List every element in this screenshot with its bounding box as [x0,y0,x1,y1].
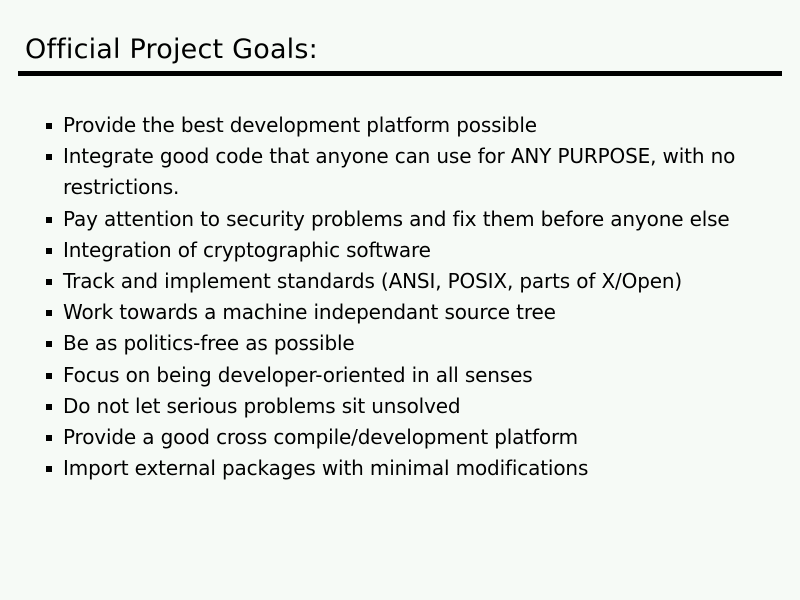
list-item: Provide the best development platform po… [45,110,765,141]
list-item-label: Integration of cryptographic software [63,235,765,266]
list-item-label: Track and implement standards (ANSI, POS… [63,266,765,297]
list-item-label: Provide a good cross compile/development… [63,422,765,453]
list-item-label: Do not let serious problems sit unsolved [63,391,765,422]
list-item-label: Pay attention to security problems and f… [63,204,765,235]
list-item-label: Focus on being developer-oriented in all… [63,360,765,391]
list-item: Be as politics-free as possible [45,328,765,359]
goals-list: Provide the best development platform po… [45,110,765,484]
list-item-label: Integrate good code that anyone can use … [63,141,765,203]
list-item-label: Provide the best development platform po… [63,110,765,141]
square-bullet-icon [46,217,52,223]
list-item: Do not let serious problems sit unsolved [45,391,765,422]
list-item: Provide a good cross compile/development… [45,422,765,453]
list-item: Focus on being developer-oriented in all… [45,360,765,391]
square-bullet-icon [46,373,52,379]
list-item: Integrate good code that anyone can use … [45,141,765,203]
square-bullet-icon [46,154,52,160]
list-item: Pay attention to security problems and f… [45,204,765,235]
square-bullet-icon [46,248,52,254]
list-item-label: Import external packages with minimal mo… [63,453,765,484]
square-bullet-icon [46,279,52,285]
list-item: Work towards a machine independant sourc… [45,297,765,328]
square-bullet-icon [46,466,52,472]
square-bullet-icon [46,310,52,316]
square-bullet-icon [46,435,52,441]
list-item: Track and implement standards (ANSI, POS… [45,266,765,297]
title-divider [18,71,782,76]
square-bullet-icon [46,123,52,129]
list-item-label: Be as politics-free as possible [63,328,765,359]
page-title: Official Project Goals: [25,33,318,67]
slide: Official Project Goals: Provide the best… [0,0,800,600]
square-bullet-icon [46,341,52,347]
list-item-label: Work towards a machine independant sourc… [63,297,765,328]
list-item: Import external packages with minimal mo… [45,453,765,484]
list-item: Integration of cryptographic software [45,235,765,266]
square-bullet-icon [46,404,52,410]
